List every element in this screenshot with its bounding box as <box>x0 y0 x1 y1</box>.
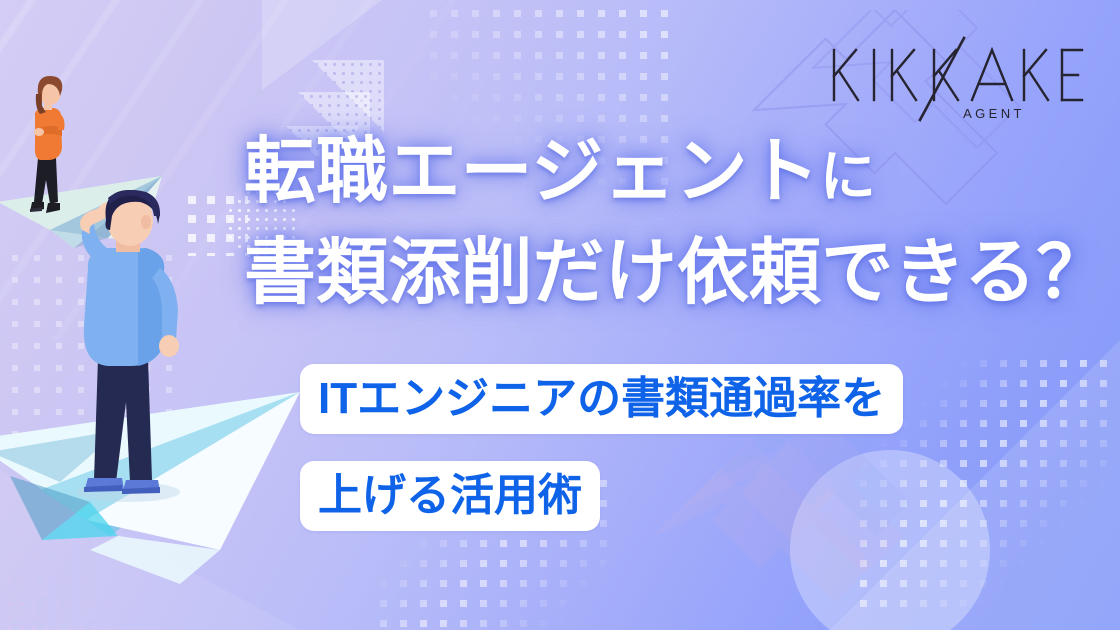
diagonal-band-bottom-right <box>494 575 1120 630</box>
corner-wedge-top-left <box>262 0 382 90</box>
headline-line-2: 書類添削だけ依頼できる？ <box>244 237 1120 310</box>
subtitle-pill-1: ITエンジニアの書類通過率を <box>300 364 903 434</box>
headline: 転職エージェントに 書類添削だけ依頼できる？ <box>244 136 1120 311</box>
circle-bottom-right <box>790 450 990 630</box>
logo-subtitle: AGENT <box>963 106 1025 121</box>
kikkake-logo[interactable]: AGENT <box>826 30 1084 128</box>
diagonal-band-secondary <box>741 478 1120 630</box>
subtitle-pill-2: 上げる活用術 <box>300 461 600 531</box>
subtitle-pill-2-label: 上げる活用術 <box>318 474 582 518</box>
dotted-triangle-icon <box>312 60 384 132</box>
headline-line-1-suffix: に <box>820 145 876 208</box>
wedge-right <box>830 300 1120 630</box>
headline-line-1: 転職エージェントに <box>244 136 1120 209</box>
headline-line-1-main: 転職エージェント <box>244 132 820 212</box>
subtitle-pill-1-label: ITエンジニアの書類通過率を <box>318 377 885 421</box>
banner-root: AGENT <box>0 0 1120 630</box>
